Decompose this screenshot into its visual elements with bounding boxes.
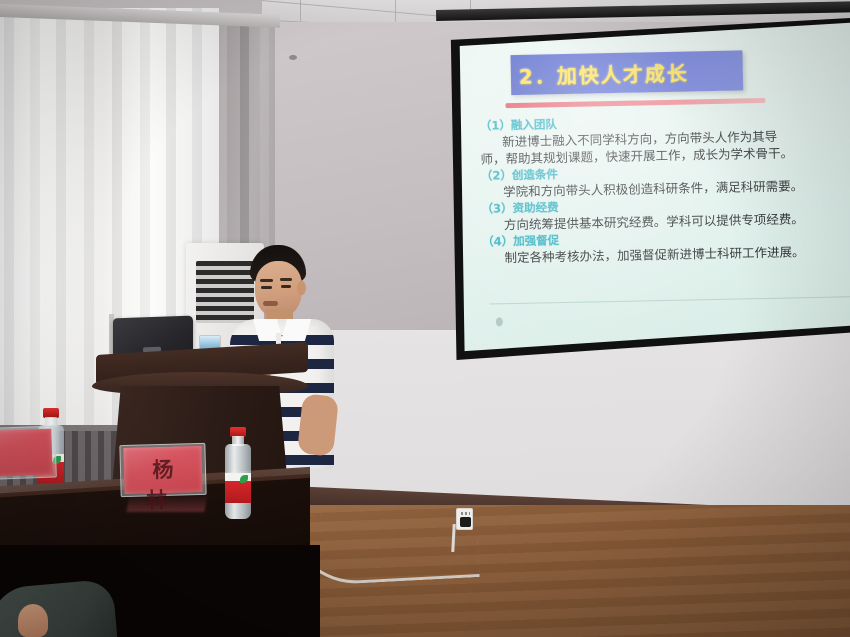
slide-title: 2．加快人才成长 <box>519 56 760 90</box>
water-bottle[interactable] <box>223 427 253 519</box>
slide-divider <box>489 296 850 304</box>
slide-content: 2．加快人才成长 （1）融入团队 新进博士融入不同学科方向，方向带头人作为其导 … <box>464 24 850 338</box>
smoke-detector-icon <box>289 55 297 60</box>
slide-title-underline <box>505 98 765 108</box>
projection-screen: 2．加快人才成长 （1）融入团队 新进博士融入不同学科方向，方向带头人作为其导 … <box>446 10 850 360</box>
presenter-ear <box>297 281 306 295</box>
presenter-mouth <box>263 301 278 306</box>
name-card[interactable] <box>0 429 53 478</box>
slide-body: （1）融入团队 新进博士融入不同学科方向，方向带头人作为其导 师，帮助其规划课题… <box>480 110 850 267</box>
name-card-panel <box>0 429 53 478</box>
name-card-text: 杨 林 <box>124 453 204 515</box>
slide-corner-mark <box>496 317 503 326</box>
name-card[interactable]: 杨 林 <box>123 446 202 494</box>
attendee-head <box>18 604 48 637</box>
presentation-photo: 2．加快人才成长 （1）融入团队 新进博士融入不同学科方向，方向带头人作为其导 … <box>0 0 850 637</box>
presenter-right-arm <box>297 393 339 456</box>
